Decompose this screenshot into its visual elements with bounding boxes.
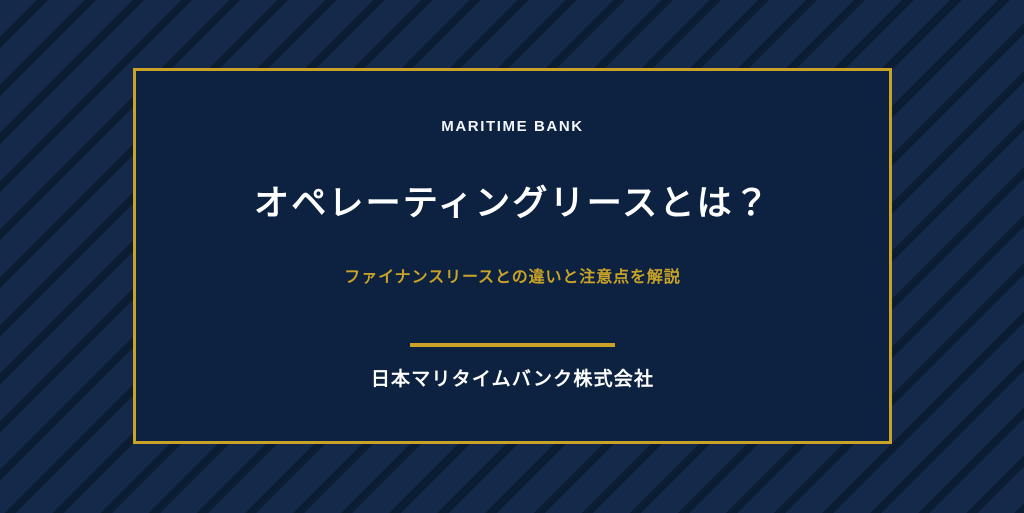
company-name: 日本マリタイムバンク株式会社	[371, 369, 654, 392]
brand-eyebrow: MARITIME BANK	[441, 119, 583, 134]
title-card: MARITIME BANK オペレーティングリースとは？ ファイナンスリースとの…	[133, 68, 892, 444]
page-title: オペレーティングリースとは？	[254, 183, 771, 224]
page-subtitle: ファイナンスリースとの違いと注意点を解説	[344, 268, 680, 287]
gold-divider	[410, 343, 615, 347]
title-slide: MARITIME BANK オペレーティングリースとは？ ファイナンスリースとの…	[0, 0, 1024, 513]
